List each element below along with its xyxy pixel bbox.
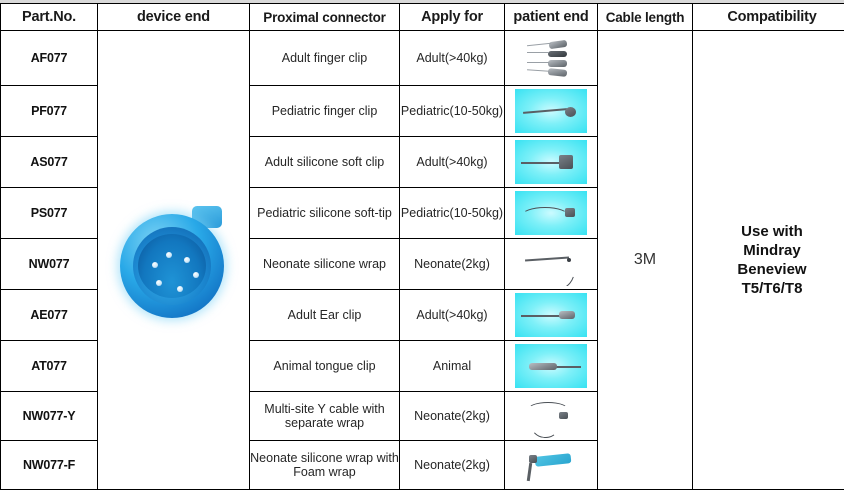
spec-table-page: Part.No. device end Proximal connector A… — [0, 0, 844, 491]
cell-proximal-connector: Multi-site Y cable with separate wrap — [250, 392, 400, 441]
table-body: AF077 Adult finger c — [1, 31, 844, 490]
column-header-apply-for: Apply for — [400, 4, 505, 31]
cell-proximal-connector: Pediatric silicone soft-tip — [250, 188, 400, 239]
cell-apply-for: Neonate(2kg) — [400, 239, 505, 290]
compatibility-line: Mindray — [693, 241, 844, 260]
probe-sensor — [567, 258, 571, 262]
cell-patient-end — [505, 137, 598, 188]
cell-patient-end — [505, 86, 598, 137]
connector-pin — [156, 280, 162, 286]
cell-device-end-merged — [98, 31, 250, 490]
cell-proximal-connector: Pediatric finger clip — [250, 86, 400, 137]
clip-lead — [527, 62, 549, 63]
cell-patient-end — [505, 188, 598, 239]
multi-site-y-cable-photo — [515, 394, 587, 438]
animal-tongue-clip-photo — [515, 344, 587, 388]
compatibility-line: Beneview — [693, 260, 844, 279]
table-row: AF077 Adult finger c — [1, 31, 844, 86]
cell-apply-for: Pediatric(10-50kg) — [400, 188, 505, 239]
cell-apply-for: Adult(>40kg) — [400, 137, 505, 188]
probe-specification-table: Part.No. device end Proximal connector A… — [0, 3, 844, 490]
cell-patient-end — [505, 341, 598, 392]
cell-partno: AF077 — [1, 31, 98, 86]
adult-silicone-soft-clip-photo — [515, 140, 587, 184]
cell-proximal-connector: Adult silicone soft clip — [250, 137, 400, 188]
cell-patient-end — [505, 392, 598, 441]
cell-proximal-connector: Neonate silicone wrap with Foam wrap — [250, 441, 400, 490]
column-header-proximal-connector: Proximal connector — [250, 4, 400, 31]
cell-partno: AS077 — [1, 137, 98, 188]
cell-proximal-connector: Adult Ear clip — [250, 290, 400, 341]
cell-patient-end — [505, 441, 598, 490]
cell-proximal-connector: Neonate silicone wrap — [250, 239, 400, 290]
adult-ear-clip-photo — [515, 293, 587, 337]
cell-apply-for: Adult(>40kg) — [400, 290, 505, 341]
pediatric-finger-clip-photo — [515, 89, 587, 133]
cell-partno: PF077 — [1, 86, 98, 137]
clip-lead — [527, 69, 549, 72]
probe-sensor — [559, 155, 573, 169]
cell-apply-for: Neonate(2kg) — [400, 441, 505, 490]
connector-lip — [138, 234, 206, 298]
cell-apply-for: Animal — [400, 341, 505, 392]
probe-sensor — [565, 208, 575, 217]
cell-apply-for: Pediatric(10-50kg) — [400, 86, 505, 137]
cell-compatibility-merged: Use with Mindray Beneview T5/T6/T8 — [693, 31, 844, 490]
cell-partno: AE077 — [1, 290, 98, 341]
connector-pin — [193, 272, 199, 278]
clip-body — [549, 40, 568, 49]
compatibility-line: Use with — [693, 222, 844, 241]
probe-wrap-curve — [533, 251, 580, 286]
column-header-cable-length: Cable length — [598, 4, 693, 31]
column-header-patient-end: patient end — [505, 4, 598, 31]
neonate-silicone-wrap-photo — [515, 242, 587, 286]
clip-body — [548, 51, 567, 57]
cell-partno: NW077-F — [1, 441, 98, 490]
cell-partno: NW077 — [1, 239, 98, 290]
adult-finger-clip-photo — [515, 36, 587, 80]
tongue-clip-body — [529, 363, 557, 370]
table-header: Part.No. device end Proximal connector A… — [1, 4, 844, 31]
clip-body — [548, 68, 568, 77]
connector-pin — [152, 262, 158, 268]
cell-proximal-connector: Animal tongue clip — [250, 341, 400, 392]
connector-pin — [166, 252, 172, 258]
cell-apply-for: Adult(>40kg) — [400, 31, 505, 86]
column-header-compatibility: Compatibility — [693, 4, 844, 31]
ear-clip-body — [559, 311, 575, 319]
cell-apply-for: Neonate(2kg) — [400, 392, 505, 441]
connector-pin — [184, 257, 190, 263]
probe-sensor — [565, 107, 576, 117]
clip-lead — [527, 43, 551, 47]
probe-cable — [527, 463, 532, 481]
clip-lead — [527, 52, 549, 53]
cell-cable-length-merged: 3M — [598, 31, 693, 490]
pediatric-silicone-soft-tip-photo — [515, 191, 587, 235]
probe-cable — [555, 366, 581, 368]
probe-sensor — [529, 455, 537, 463]
probe-cable — [521, 207, 569, 225]
cell-partno: PS077 — [1, 188, 98, 239]
probe-cable — [523, 108, 567, 113]
probe-cable — [521, 162, 561, 164]
header-row: Part.No. device end Proximal connector A… — [1, 4, 844, 31]
compatibility-line: T5/T6/T8 — [693, 279, 844, 298]
probe-sensor — [559, 412, 568, 419]
neonate-foam-wrap-photo — [515, 443, 587, 487]
cell-patient-end — [505, 239, 598, 290]
clip-body — [548, 60, 567, 67]
foam-wrap-body — [535, 453, 572, 467]
cell-patient-end — [505, 290, 598, 341]
connector-pin — [177, 286, 183, 292]
cell-proximal-connector: Adult finger clip — [250, 31, 400, 86]
column-header-partno: Part.No. — [1, 4, 98, 31]
column-header-device-end: device end — [98, 4, 250, 31]
cell-partno: AT077 — [1, 341, 98, 392]
cell-partno: NW077-Y — [1, 392, 98, 441]
cell-patient-end — [505, 31, 598, 86]
blue-circular-connector-icon — [114, 200, 234, 320]
probe-cable — [521, 315, 561, 317]
